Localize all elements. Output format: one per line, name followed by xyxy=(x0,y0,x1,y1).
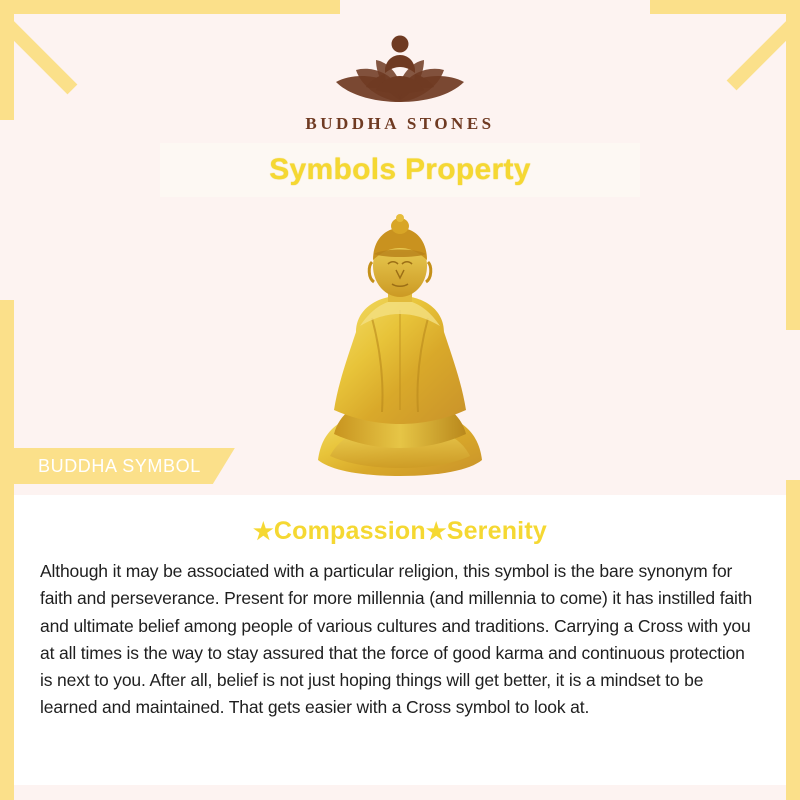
decor-left-bottom-bar xyxy=(0,470,14,800)
decor-top-right-bar xyxy=(650,0,800,14)
content-panel: ★Compassion★Serenity Although it may be … xyxy=(14,495,786,785)
star-icon-right: ★ xyxy=(426,518,447,544)
ribbon-tag: BUDDHA SYMBOL xyxy=(14,448,235,484)
ribbon-label: BUDDHA SYMBOL xyxy=(38,456,201,477)
headline-word-one: Compassion xyxy=(274,517,426,545)
brand-name: BUDDHA STONES xyxy=(0,114,800,134)
poster-page: BUDDHA STONES Symbols Property xyxy=(0,0,800,800)
brand-header: BUDDHA STONES xyxy=(0,24,800,134)
decor-top-left-bar xyxy=(0,0,340,14)
page-title: Symbols Property xyxy=(160,143,640,197)
content-headline: ★Compassion★Serenity xyxy=(14,517,786,546)
lotus-meditation-figure-icon xyxy=(316,24,484,110)
headline-word-two: Serenity xyxy=(447,517,547,545)
content-paragraph: Although it may be associated with a par… xyxy=(40,558,760,722)
star-icon-left: ★ xyxy=(253,518,274,544)
title-band: Symbols Property xyxy=(160,143,640,197)
decor-right-bottom-bar xyxy=(786,480,800,800)
